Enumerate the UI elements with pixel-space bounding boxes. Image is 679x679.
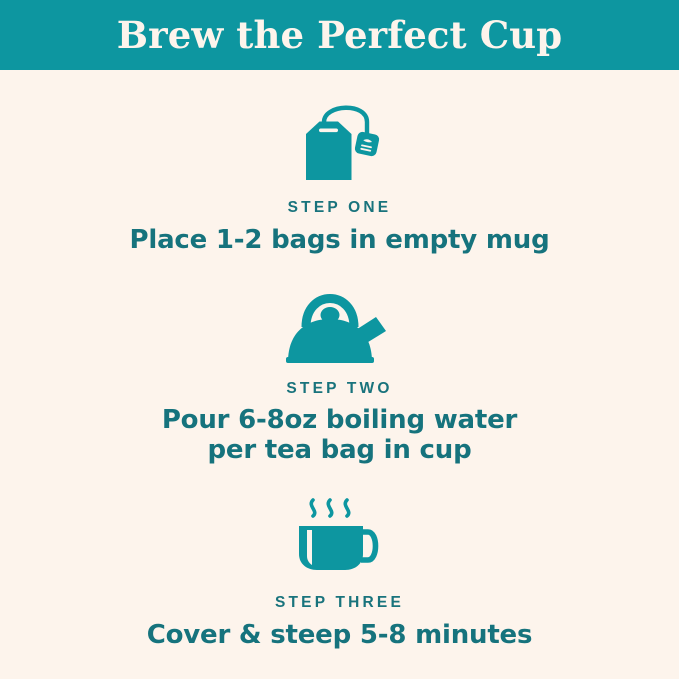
kettle-icon <box>280 279 400 365</box>
step-two-text: Pour 6-8oz boiling water per tea bag in … <box>140 405 540 465</box>
step-three-label: STEP THREE <box>275 595 404 611</box>
brew-instructions-page: Brew the Perfect Cup <box>0 0 679 679</box>
steaming-mug-icon <box>285 490 395 576</box>
step-one-label: STEP ONE <box>288 200 392 216</box>
page-title: Brew the Perfect Cup <box>117 17 563 54</box>
steps-list: STEP ONE Place 1-2 bags in empty mug STE… <box>0 70 679 679</box>
header-banner: Brew the Perfect Cup <box>0 0 679 70</box>
step-three-text: Cover & steep 5-8 minutes <box>147 620 533 650</box>
step-two-label: STEP TWO <box>286 381 392 397</box>
step-item-one: STEP ONE Place 1-2 bags in empty mug <box>0 70 679 255</box>
step-item-three: STEP THREE Cover & steep 5-8 minutes <box>0 465 679 650</box>
step-one-text: Place 1-2 bags in empty mug <box>130 225 550 255</box>
tea-bag-icon <box>285 96 395 182</box>
step-item-two: STEP TWO Pour 6-8oz boiling water per te… <box>0 255 679 466</box>
